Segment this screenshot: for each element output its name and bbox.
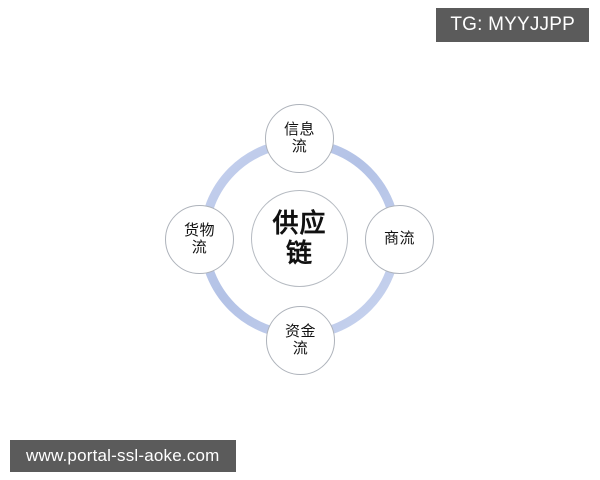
node-goods-flow-line-2: 流 <box>192 240 208 257</box>
node-capital-flow-line-2: 流 <box>293 341 309 358</box>
telegram-badge: TG: MYYJJPP <box>436 8 589 42</box>
node-information-flow-line-2: 流 <box>292 139 308 156</box>
page-canvas: 供应 链 信息 流 商流 资金 流 货物 流 TG: MYYJJPP www.p… <box>0 0 600 480</box>
node-commerce-flow-line-1: 商流 <box>384 231 415 248</box>
node-center-line-2: 链 <box>286 239 313 268</box>
node-capital-flow-line-1: 资金 <box>285 324 316 341</box>
node-center-supply-chain[interactable]: 供应 链 <box>251 190 348 287</box>
node-information-flow-line-1: 信息 <box>284 122 315 139</box>
node-goods-flow-line-1: 货物 <box>184 223 215 240</box>
node-commerce-flow[interactable]: 商流 <box>365 205 434 274</box>
site-watermark: www.portal-ssl-aoke.com <box>10 440 236 472</box>
node-center-line-1: 供应 <box>272 209 326 238</box>
node-goods-flow[interactable]: 货物 流 <box>165 205 234 274</box>
node-capital-flow[interactable]: 资金 流 <box>266 306 335 375</box>
node-information-flow[interactable]: 信息 流 <box>265 104 334 173</box>
